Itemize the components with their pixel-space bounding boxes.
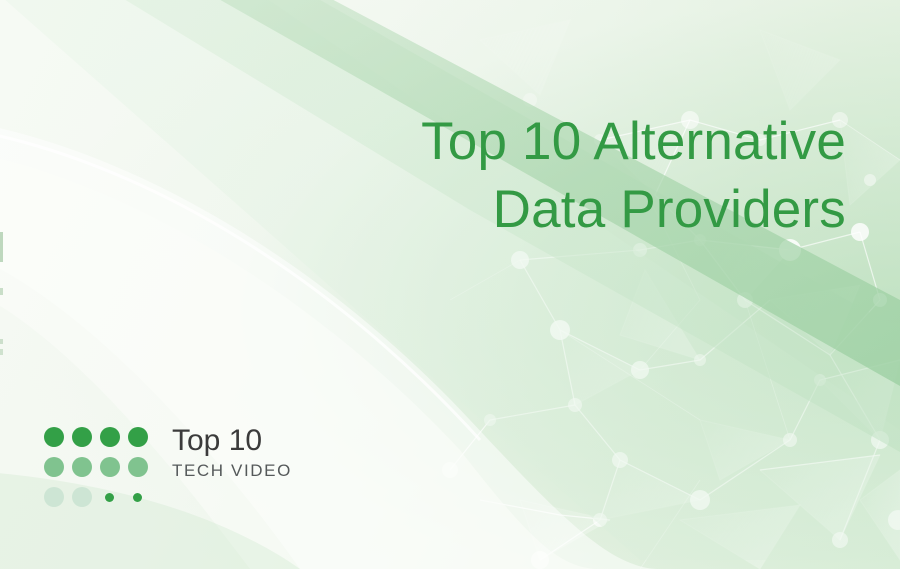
logo-dot-icon xyxy=(44,457,64,477)
brand-logo: Top 10 TECH VIDEO xyxy=(44,422,292,512)
logo-dot-icon xyxy=(100,427,120,447)
slide-canvas: Top 10 Alternative Data Providers Top 10… xyxy=(0,0,900,569)
logo-dot-cell-r1-c3 xyxy=(100,422,128,452)
logo-dot-cell-r1-c2 xyxy=(72,422,100,452)
logo-dot-cell-r3-c3 xyxy=(100,482,128,512)
logo-dot-cell-r2-c3 xyxy=(100,452,128,482)
logo-dot-cell-r2-c4 xyxy=(128,452,156,482)
page-title: Top 10 Alternative Data Providers xyxy=(246,108,846,244)
logo-dot-icon xyxy=(128,427,148,447)
logo-dot-icon xyxy=(128,457,148,477)
left-edge-fragment-1 xyxy=(0,232,3,262)
logo-dot-icon xyxy=(133,493,142,502)
logo-dot-icon xyxy=(72,427,92,447)
logo-dot-grid xyxy=(44,422,156,512)
logo-dot-cell-r3-c4 xyxy=(128,482,156,512)
logo-dot-icon xyxy=(100,457,120,477)
logo-dot-icon xyxy=(44,487,64,507)
logo-dot-icon xyxy=(72,487,92,507)
logo-dot-cell-r1-c4 xyxy=(128,422,156,452)
title-line-2: Data Providers xyxy=(246,176,846,244)
logo-dot-cell-r2-c2 xyxy=(72,452,100,482)
logo-dot-icon xyxy=(105,493,114,502)
left-edge-fragment-4 xyxy=(0,349,3,355)
logo-dot-cell-r3-c2 xyxy=(72,482,100,512)
logo-dot-icon xyxy=(72,457,92,477)
title-line-1: Top 10 Alternative xyxy=(246,108,846,176)
logo-text: Top 10 TECH VIDEO xyxy=(172,424,292,482)
left-edge-fragment-2 xyxy=(0,288,3,295)
logo-dot-cell-r2-c1 xyxy=(44,452,72,482)
logo-title: Top 10 xyxy=(172,424,292,458)
logo-dot-cell-r3-c1 xyxy=(44,482,72,512)
logo-dot-icon xyxy=(44,427,64,447)
logo-tagline: TECH VIDEO xyxy=(172,460,292,482)
logo-dot-cell-r1-c1 xyxy=(44,422,72,452)
left-edge-fragment-3 xyxy=(0,339,3,344)
